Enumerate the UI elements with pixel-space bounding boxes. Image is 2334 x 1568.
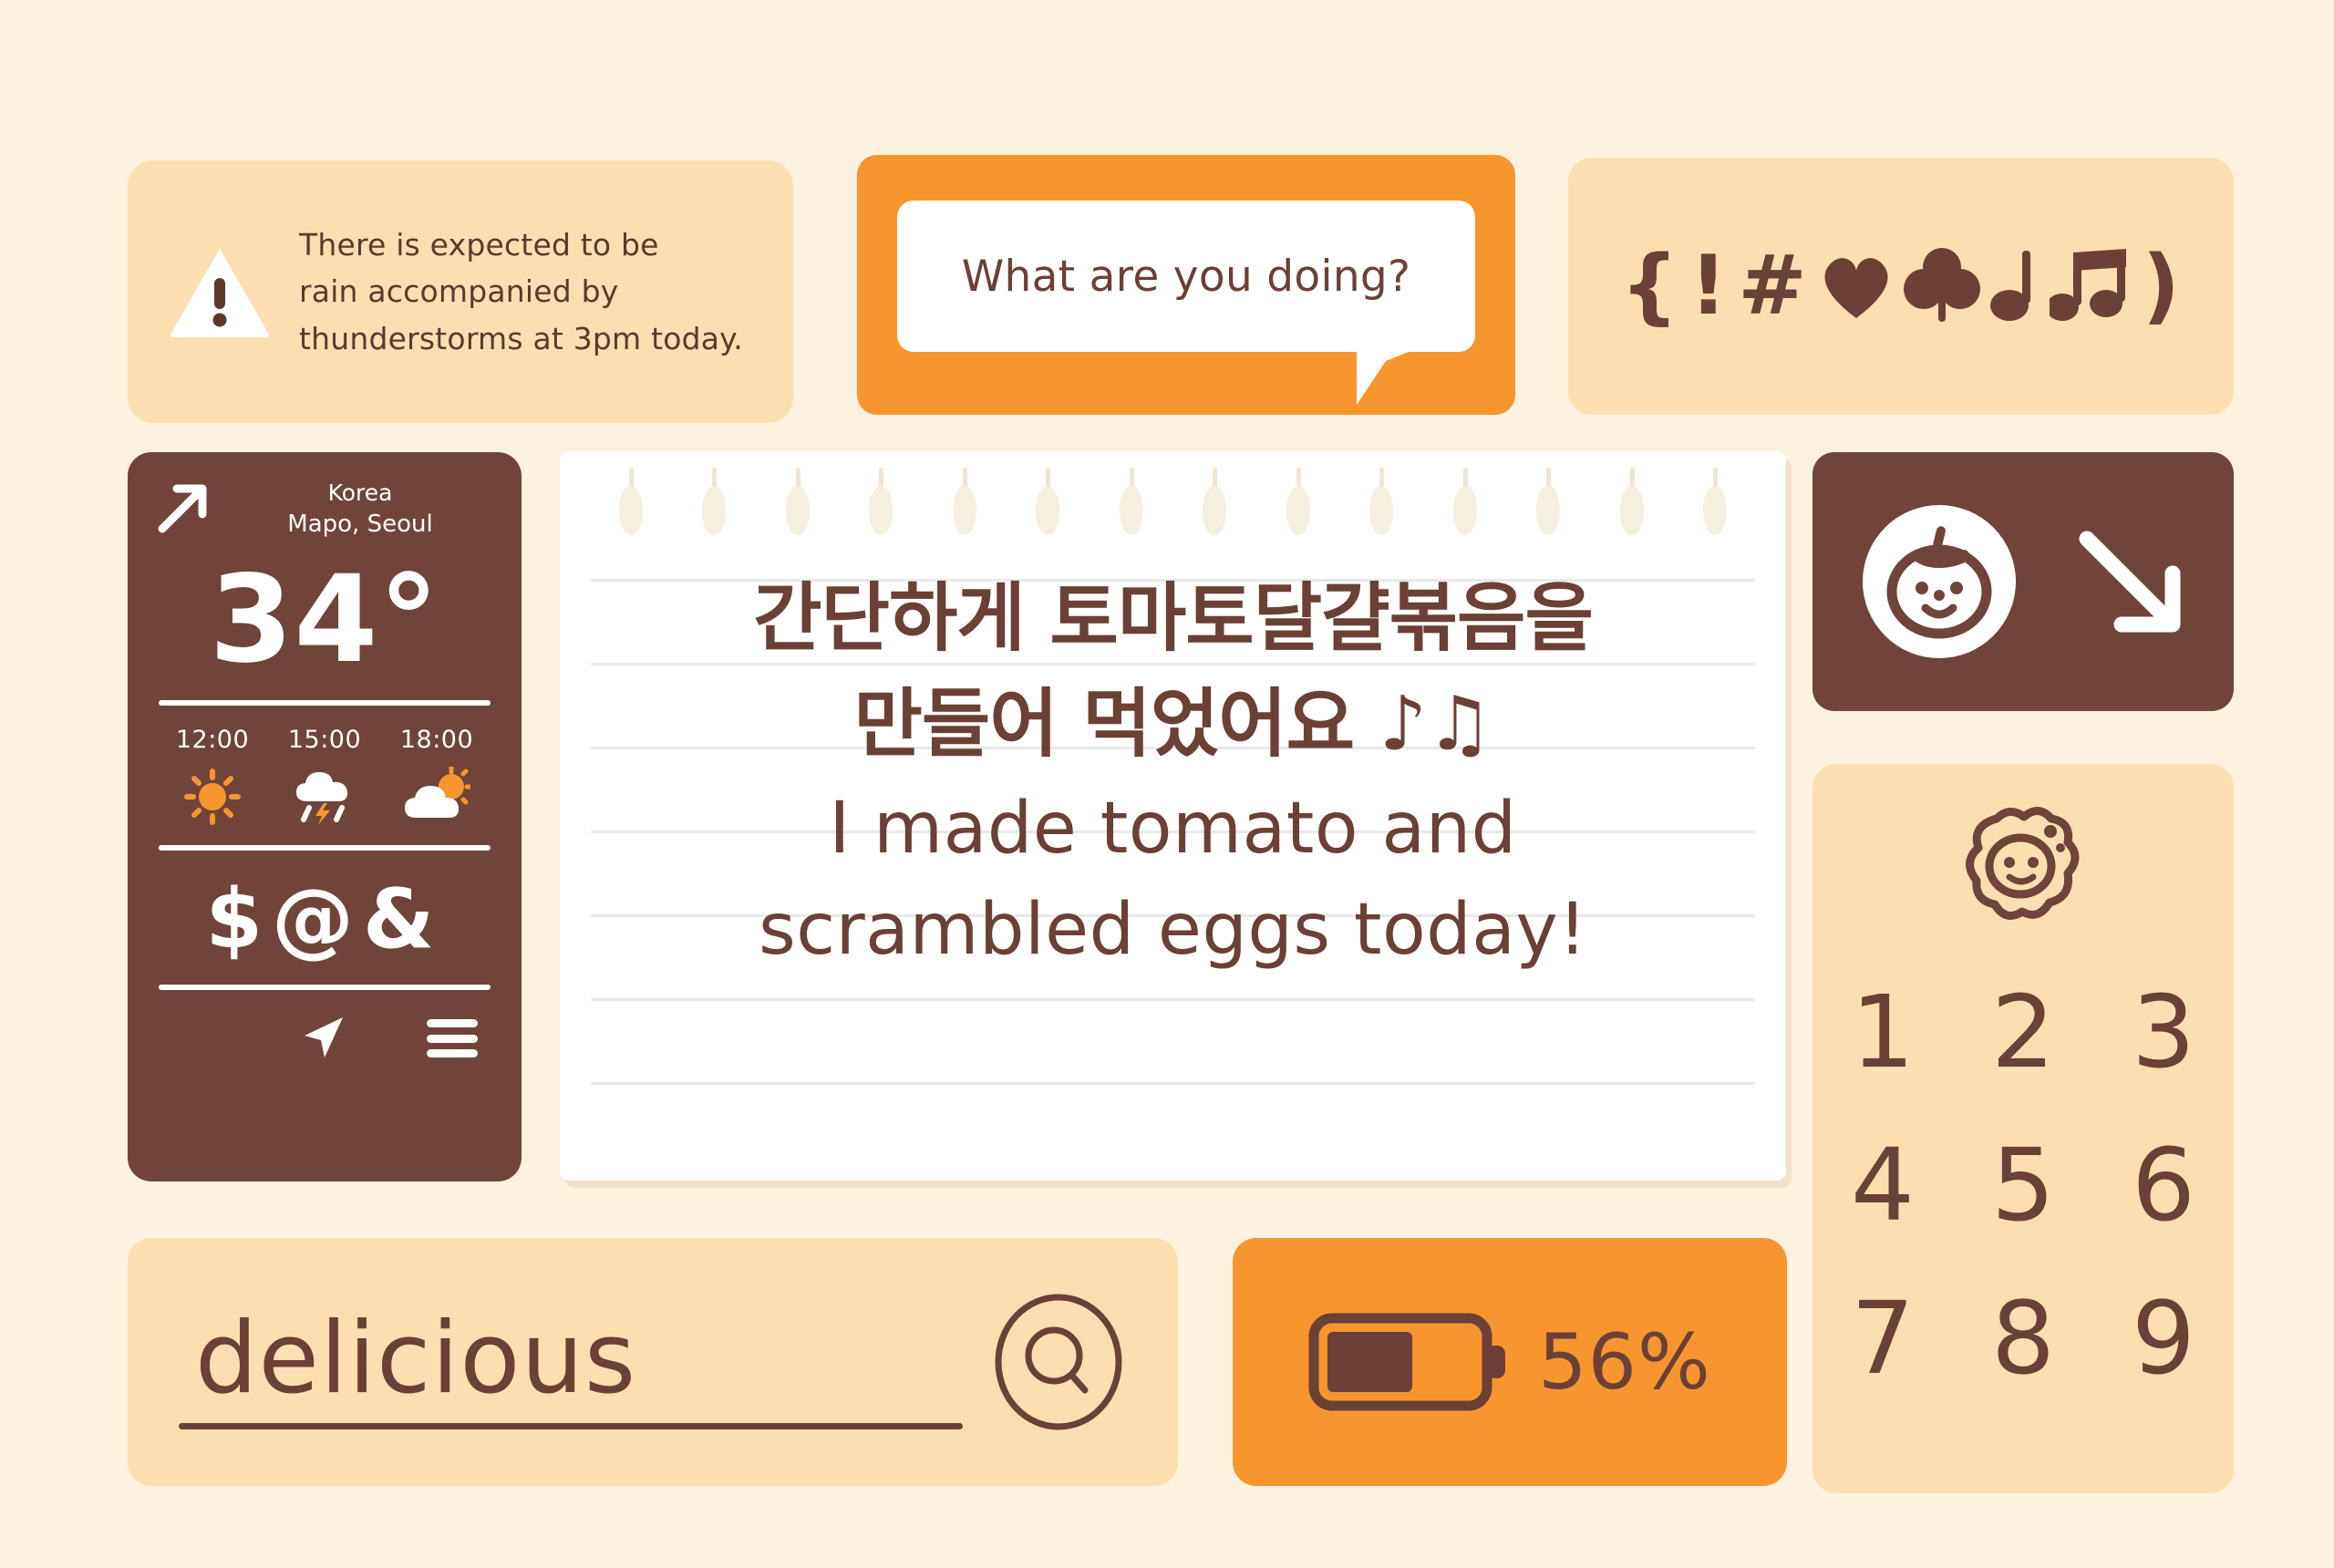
keypad-key-4[interactable]: 4	[1851, 1135, 1915, 1235]
symbols-card: { ! # )	[1568, 158, 2234, 415]
tomato-face-avatar-icon	[1858, 500, 2020, 663]
keypad-key-1[interactable]: 1	[1851, 982, 1915, 1082]
keypad-key-3[interactable]: 3	[2132, 982, 2195, 1082]
heart-icon	[1818, 251, 1895, 322]
eighth-note-icon	[1989, 247, 2040, 325]
keypad-key-5[interactable]: 5	[1991, 1135, 2055, 1235]
weather-hourly-forecast: 12:00 15:00	[155, 726, 494, 825]
keypad-grid: 123456789	[1812, 955, 2234, 1415]
warning-triangle-icon	[166, 243, 274, 340]
notepad-ring	[1286, 468, 1310, 535]
weather-actions	[155, 1014, 494, 1063]
forecast-hour-12: 12:00	[162, 726, 263, 825]
forecast-time: 12:00	[176, 726, 249, 754]
notepad-ring	[702, 468, 726, 535]
weather-symbols: $@&	[155, 874, 494, 965]
notepad-ring	[786, 468, 810, 535]
forecast-hour-18: 18:00	[387, 726, 487, 825]
notepad-ring	[1703, 468, 1727, 535]
beamed-notes-icon	[2050, 247, 2133, 325]
keypad-key-7[interactable]: 7	[1851, 1288, 1915, 1388]
weather-district: Mapo, Seoul	[226, 509, 494, 541]
battery-percent-label: 56%	[1538, 1324, 1711, 1400]
arrow-down-right-icon[interactable]	[2071, 522, 2189, 641]
clover-icon	[1904, 247, 1980, 325]
weather-location: Korea Mapo, Seoul	[226, 472, 494, 541]
brace-open-glyph: {	[1620, 245, 1680, 327]
alert-message: There is expected to be rain accompanied…	[299, 222, 743, 361]
notepad-card: 간단하게 토마토달걀볶음을 만들어 먹었어요 ♪♫ I made tomato …	[560, 451, 1786, 1181]
notepad-spiral-rings	[560, 468, 1786, 535]
hamburger-bar	[427, 1049, 478, 1057]
search-card: delicious	[128, 1238, 1178, 1486]
notepad-ring	[869, 468, 893, 535]
exclamation-glyph: !	[1689, 245, 1729, 327]
battery-card: 56%	[1233, 1238, 1787, 1486]
weather-country: Korea	[328, 480, 393, 506]
notepad-ring	[619, 468, 643, 535]
navigate-icon[interactable]	[299, 1014, 348, 1063]
hamburger-bar	[427, 1019, 478, 1027]
note-line-en-2: scrambled eggs today!	[560, 880, 1786, 981]
forecast-hour-15: 15:00	[274, 726, 375, 825]
hamburger-menu-icon[interactable]	[427, 1019, 478, 1057]
hash-glyph: #	[1738, 245, 1808, 327]
note-line-ko-1: 간단하게 토마토달걀볶음을	[560, 566, 1786, 672]
fried-egg-face-icon	[1955, 797, 2091, 934]
divider-bottom	[159, 985, 491, 990]
hamburger-bar	[427, 1035, 478, 1043]
notepad-ring	[953, 468, 976, 535]
search-input-underline	[179, 1423, 963, 1429]
notepad-ring	[1120, 468, 1143, 535]
poster-canvas: There is expected to be rain accompanied…	[0, 0, 2334, 1568]
notepad-ring	[1036, 468, 1059, 535]
notepad-ring	[1453, 468, 1477, 535]
arrow-up-right-icon[interactable]	[155, 480, 212, 536]
notepad-ring	[1369, 468, 1393, 535]
notepad-content: 간단하게 토마토달걀볶음을 만들어 먹었어요 ♪♫ I made tomato …	[560, 566, 1786, 980]
keypad-key-2[interactable]: 2	[1991, 982, 2055, 1082]
notepad-ring	[1203, 468, 1226, 535]
speech-bubble-tail	[1357, 350, 1413, 405]
weather-alert-card: There is expected to be rain accompanied…	[128, 160, 793, 423]
speech-bubble-body: What are you doing?	[897, 201, 1475, 352]
weather-temperature: 34°	[155, 560, 494, 680]
search-input[interactable]: delicious	[179, 1295, 963, 1429]
divider-middle	[159, 845, 491, 851]
search-icon[interactable]	[990, 1294, 1127, 1430]
speech-bubble-card: What are you doing?	[857, 155, 1515, 415]
partly-cloudy-icon	[403, 767, 470, 825]
notepad-ring	[1620, 468, 1644, 535]
sun-icon	[179, 767, 246, 825]
keypad-key-6[interactable]: 6	[2132, 1135, 2195, 1235]
paren-close-glyph: )	[2143, 245, 2182, 327]
note-line-en-1: I made tomato and	[560, 779, 1786, 880]
divider-top	[159, 700, 491, 706]
search-input-value: delicious	[179, 1307, 963, 1410]
notepad-rule-line	[591, 998, 1755, 1001]
notepad-ring	[1536, 468, 1560, 535]
note-line-ko-2: 만들어 먹었어요 ♪♫	[560, 672, 1786, 778]
keypad-key-8[interactable]: 8	[1991, 1288, 2055, 1388]
number-keypad-card: 123456789	[1812, 764, 2234, 1493]
forecast-time: 18:00	[400, 726, 473, 754]
tomato-avatar-card	[1812, 452, 2234, 711]
thunderstorm-icon	[291, 767, 358, 825]
notepad-rule-line	[591, 1082, 1755, 1085]
forecast-time: 15:00	[288, 726, 361, 754]
symbols-row: { ! # )	[1620, 245, 2182, 327]
weather-header: Korea Mapo, Seoul	[155, 472, 494, 556]
keypad-key-9[interactable]: 9	[2132, 1288, 2195, 1388]
battery-icon	[1308, 1309, 1518, 1415]
weather-widget-card: Korea Mapo, Seoul 34° 12:00	[128, 452, 522, 1181]
speech-bubble-text: What are you doing?	[962, 252, 1411, 302]
